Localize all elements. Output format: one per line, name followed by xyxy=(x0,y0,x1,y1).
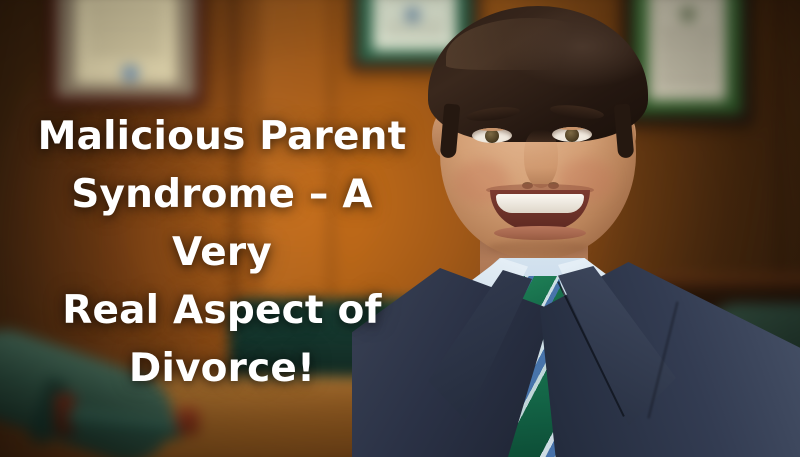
headline-text: Malicious Parent Syndrome – A Very Real … xyxy=(16,108,428,398)
nose xyxy=(524,130,558,188)
teeth xyxy=(496,194,584,213)
iris-left xyxy=(485,129,499,143)
eye-right xyxy=(552,127,592,142)
chin-shadow xyxy=(488,240,588,256)
eyelid-right xyxy=(552,127,592,130)
eyelid-left xyxy=(472,128,512,131)
iris-right xyxy=(565,128,579,142)
header-graphic: Malicious Parent Syndrome – A Very Real … xyxy=(0,0,800,457)
lower-lip xyxy=(494,226,586,240)
eye-left xyxy=(472,128,512,143)
